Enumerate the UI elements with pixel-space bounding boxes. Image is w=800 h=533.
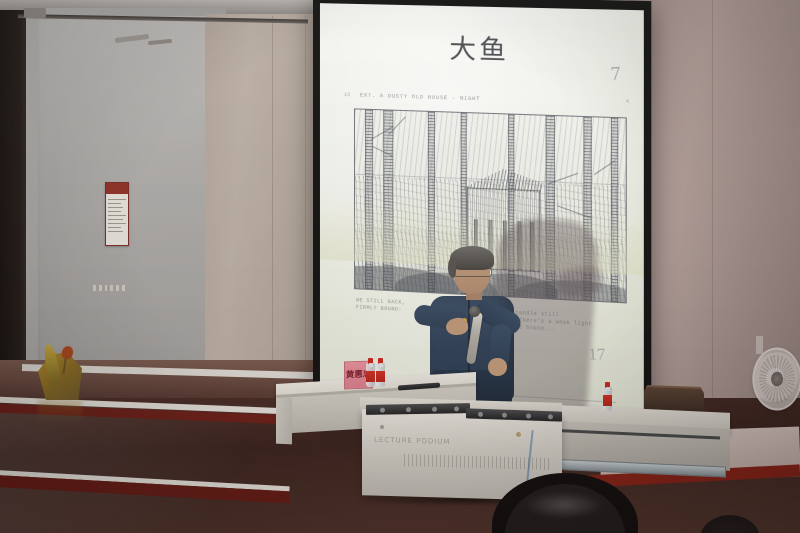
wall-seam: [305, 16, 306, 368]
wall-seam: [272, 16, 273, 368]
lecture-hall-photo: 大鱼 13 EXT. A DUSTY OLD HOUSE - NIGHT 4 7…: [0, 0, 800, 533]
slide-handwritten-mark-top: 7: [609, 63, 621, 86]
bundle-reflection: [38, 400, 82, 424]
wall-notice-frame: [105, 182, 129, 246]
water-bottle: [376, 363, 385, 387]
water-bottle: [603, 387, 612, 411]
podium-screw: [380, 425, 384, 429]
rail-bracket: [24, 8, 46, 18]
slide-page-number-left: 13: [344, 92, 350, 98]
audience-head-highlight: [524, 491, 604, 519]
notice-header-band: [106, 183, 128, 194]
wall-seam: [712, 0, 713, 420]
wall-panel-beige: [205, 14, 330, 374]
water-bottle: [366, 363, 375, 387]
fan-mount: [756, 336, 763, 354]
speaker-hair: [450, 246, 494, 270]
glasses-icon: [454, 268, 492, 277]
podium-equipment-rail: [366, 403, 470, 415]
podium-side-panel: [276, 398, 292, 445]
speaker-right-hand: [488, 358, 507, 376]
slide-page-number-right: 4: [626, 99, 629, 105]
slide-body-text-left: WE STILL BACK, FIRMLY BOUND:: [356, 297, 405, 314]
podium-lock: [516, 432, 521, 437]
light-switch-plate[interactable]: [92, 284, 126, 292]
notice-text-lines: [108, 196, 126, 242]
